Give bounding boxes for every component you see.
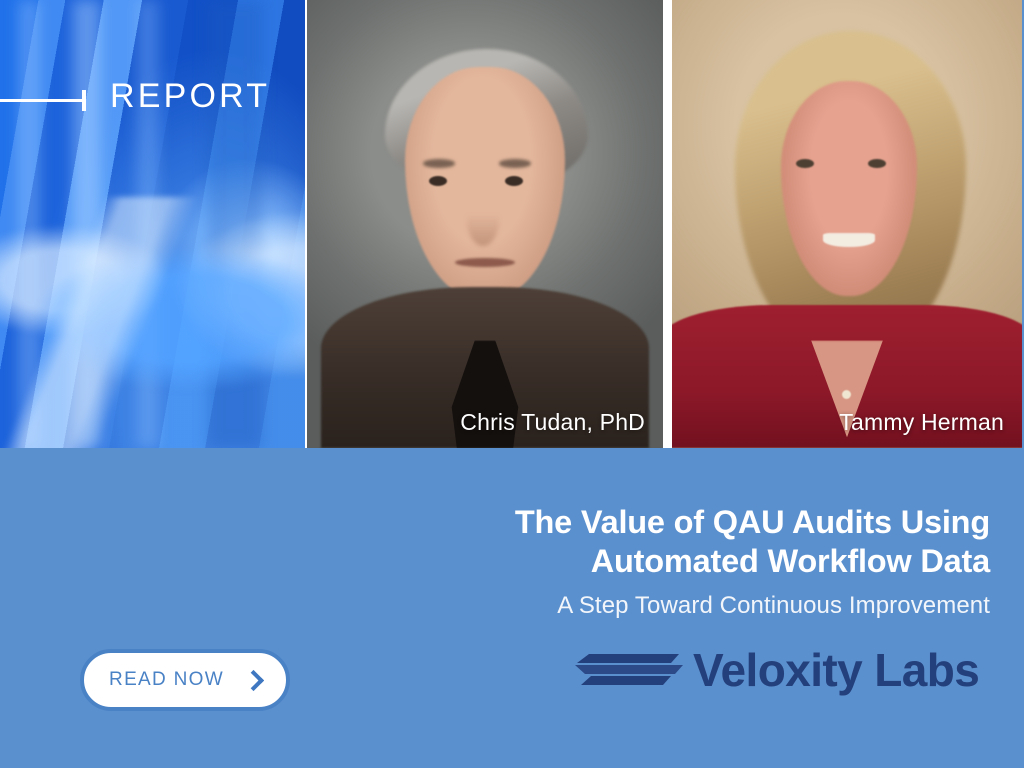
mouth-shape xyxy=(455,258,516,267)
eye-left-shape xyxy=(429,176,448,186)
brow-left-shape xyxy=(423,159,455,168)
lower-band: The Value of QAU Audits Using Automated … xyxy=(0,448,1024,768)
rule-end-tick-icon xyxy=(82,90,86,111)
read-now-label: READ NOW xyxy=(109,669,224,691)
brand-logo: Veloxity Labs xyxy=(575,644,979,696)
headline-line-1: The Value of QAU Audits Using xyxy=(330,503,990,542)
chevron-right-icon xyxy=(243,669,264,690)
subtitle: A Step Toward Continuous Improvement xyxy=(330,592,990,620)
speed-lines-icon xyxy=(575,644,687,696)
read-now-button[interactable]: READ NOW xyxy=(80,649,290,711)
necklace-pendant-icon xyxy=(842,390,851,399)
person-panel-2: Tammy Herman xyxy=(663,0,1022,448)
headshot-photo-tammy-herman xyxy=(672,0,1022,448)
eye-right-shape xyxy=(505,176,524,186)
lab-equipment-photo xyxy=(0,0,305,448)
report-promo-card: REPORT Chris Tudan, PhD xyxy=(0,0,1024,768)
headline-block: The Value of QAU Audits Using Automated … xyxy=(330,503,990,620)
photo-strip: REPORT Chris Tudan, PhD xyxy=(0,0,1024,448)
person-name-caption: Tammy Herman xyxy=(839,409,1004,436)
person-name-caption: Chris Tudan, PhD xyxy=(460,409,645,436)
person-panel-1: Chris Tudan, PhD xyxy=(305,0,663,448)
report-label: REPORT xyxy=(110,77,270,116)
headline-line-2: Automated Workflow Data xyxy=(330,542,990,581)
brow-right-shape xyxy=(499,159,531,168)
horizontal-rule-icon xyxy=(0,99,86,102)
headshot-photo-chris-tudan xyxy=(307,0,663,448)
brand-name: Veloxity Labs xyxy=(693,647,979,693)
report-panel: REPORT xyxy=(0,0,305,448)
